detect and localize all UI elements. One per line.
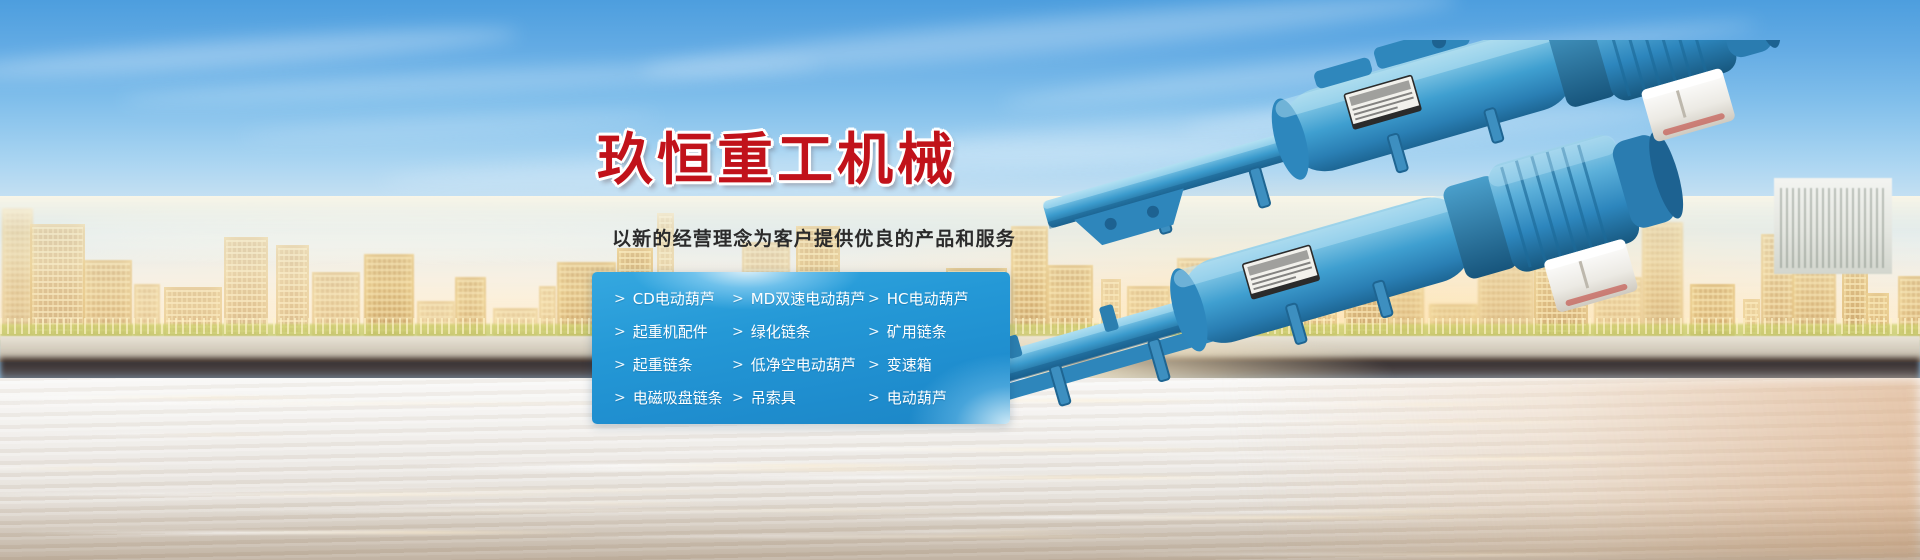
product-links-panel: >CD电动葫芦>MD双速电动葫芦>HC电动葫芦>起重机配件>绿化链条>矿用链条>…	[592, 272, 1010, 424]
product-link[interactable]: >起重链条	[614, 348, 732, 381]
chevron-right-icon: >	[868, 358, 880, 372]
chevron-right-icon: >	[732, 292, 744, 306]
product-photo-electric-hoists	[860, 40, 1920, 460]
speed-line	[354, 502, 725, 505]
speed-line	[0, 493, 590, 496]
product-link-label: 电动葫芦	[887, 387, 947, 408]
product-link-label: 吊索具	[751, 387, 796, 408]
hero-banner: 玖恒重工机械 以新的经营理念为客户提供优良的产品和服务 >CD电动葫芦>MD双速…	[0, 0, 1920, 560]
product-link[interactable]: >变速箱	[868, 348, 1010, 381]
chevron-right-icon: >	[614, 358, 626, 372]
product-link-label: 绿化链条	[751, 321, 811, 342]
product-link[interactable]: >CD电动葫芦	[614, 282, 732, 315]
speed-line	[552, 535, 1195, 538]
product-link-label: HC电动葫芦	[887, 288, 969, 309]
product-link-label: 低净空电动葫芦	[751, 354, 856, 375]
speed-line	[17, 531, 598, 534]
product-link[interactable]: >吊索具	[732, 381, 868, 414]
product-link[interactable]: >矿用链条	[868, 315, 1010, 348]
product-link[interactable]: >起重机配件	[614, 315, 732, 348]
speed-line	[0, 396, 354, 399]
product-link-label: 电磁吸盘链条	[633, 387, 723, 408]
speed-line	[0, 467, 162, 470]
product-link[interactable]: >MD双速电动葫芦	[732, 282, 868, 315]
speed-line	[822, 516, 1497, 519]
speed-line	[1135, 510, 1537, 513]
product-link[interactable]: >绿化链条	[732, 315, 868, 348]
chevron-right-icon: >	[614, 325, 626, 339]
chevron-right-icon: >	[614, 292, 626, 306]
product-link[interactable]: >HC电动葫芦	[868, 282, 1010, 315]
speed-line	[48, 433, 300, 436]
page-title: 玖恒重工机械	[597, 115, 957, 196]
chevron-right-icon: >	[732, 325, 744, 339]
product-link-label: 变速箱	[887, 354, 932, 375]
speed-line	[413, 464, 987, 467]
product-link[interactable]: >低净空电动葫芦	[732, 348, 868, 381]
product-link-label: CD电动葫芦	[633, 288, 715, 309]
speed-line	[1113, 553, 1640, 556]
chevron-right-icon: >	[732, 391, 744, 405]
product-link[interactable]: >电磁吸盘链条	[614, 381, 732, 414]
chevron-right-icon: >	[732, 358, 744, 372]
product-link[interactable]: >电动葫芦	[868, 381, 1010, 414]
page-subtitle: 以新的经营理念为客户提供优良的产品和服务	[612, 224, 1016, 251]
speed-line	[51, 489, 831, 492]
speed-line	[858, 530, 1094, 533]
chevron-right-icon: >	[868, 391, 880, 405]
product-link-label: 矿用链条	[887, 321, 947, 342]
speed-line	[680, 476, 1259, 479]
chevron-right-icon: >	[868, 292, 880, 306]
chevron-right-icon: >	[868, 325, 880, 339]
product-link-label: 起重机配件	[633, 321, 708, 342]
speed-line	[418, 468, 1010, 471]
chevron-right-icon: >	[614, 391, 626, 405]
product-link-label: 起重链条	[633, 354, 693, 375]
product-link-label: MD双速电动葫芦	[751, 288, 866, 309]
speed-line	[346, 509, 1039, 512]
